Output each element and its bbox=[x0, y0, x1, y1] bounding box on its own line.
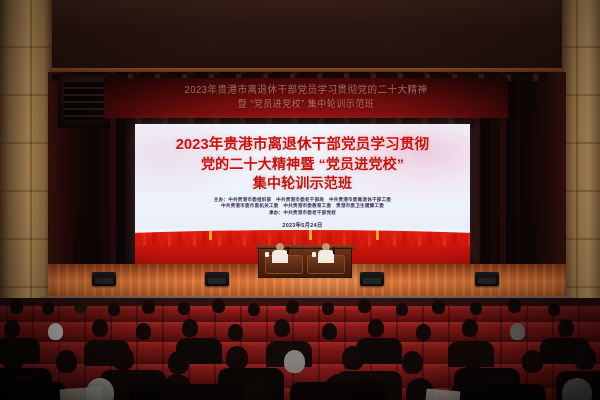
audience-head bbox=[92, 319, 108, 337]
audience-head bbox=[226, 346, 248, 370]
audience-head-gray-hair bbox=[284, 350, 305, 373]
audience-head bbox=[368, 319, 384, 337]
organizer-label-1: 主办： bbox=[214, 197, 228, 202]
audience-head bbox=[168, 351, 189, 374]
seated-person-left bbox=[272, 243, 288, 263]
audience-head bbox=[142, 300, 155, 314]
audience-head bbox=[342, 346, 364, 370]
audience-head bbox=[522, 350, 543, 373]
audience-head bbox=[4, 320, 20, 338]
backdrop-banner-line2: 暨 “党员进党校” 集中轮训示范班 bbox=[104, 97, 508, 111]
organizer-text-2: 中共贵港市委市直机关工委 中共贵港市委教育工委 贵港市委卫生健康工委 bbox=[221, 203, 384, 208]
audience-shoulders-front bbox=[0, 382, 66, 400]
audience-head bbox=[402, 351, 423, 374]
stage-monitor-3 bbox=[360, 272, 384, 286]
seated-person-right-body bbox=[318, 250, 334, 263]
organizer-label-3: 承办： bbox=[269, 210, 283, 215]
audience-head bbox=[248, 303, 260, 316]
hanging-stage-equipment bbox=[58, 74, 110, 128]
slide-organizers: 主办：中共贵港市委组织部 中共贵港市委老干部局 中共贵港市委离退休干部工委 中共… bbox=[135, 197, 470, 216]
audience-head bbox=[432, 300, 445, 314]
audience-head bbox=[178, 302, 190, 315]
stage-monitor-1 bbox=[92, 272, 116, 286]
audience-head bbox=[286, 300, 299, 314]
audience-head bbox=[244, 378, 272, 400]
audience-head bbox=[74, 299, 87, 313]
microphone-right bbox=[333, 247, 335, 254]
audience-head-white-hair bbox=[48, 323, 63, 340]
audience-head bbox=[322, 323, 337, 340]
audience-head bbox=[182, 319, 198, 337]
audience-head bbox=[108, 303, 120, 316]
audience-head-gray-hair bbox=[510, 323, 525, 340]
audience-shoulders-front bbox=[290, 382, 386, 400]
audience-head bbox=[136, 323, 151, 340]
projection-screen: 2023年贵港市离退休干部党员学习贯彻 党的二十大精神暨 “党员进党校” 集中轮… bbox=[135, 124, 470, 264]
audience-head bbox=[416, 324, 431, 341]
audience-head bbox=[212, 299, 225, 313]
skyline-accent-3 bbox=[376, 230, 379, 240]
audience-shoulders-front bbox=[450, 384, 546, 400]
slide-title-line3: 集中轮训示范班 bbox=[139, 174, 466, 193]
water-cup-left bbox=[265, 252, 269, 257]
stage-monitor-4 bbox=[475, 272, 499, 286]
stage-backdrop-banner: 2023年贵港市离退休干部党员学习贯彻党的二十大精神 暨 “党员进党校” 集中轮… bbox=[104, 78, 508, 118]
organizer-row-3: 承办：中共贵港市委老干部党校 bbox=[135, 210, 470, 216]
audience-head bbox=[462, 346, 484, 370]
organizer-text-3: 中共贵港市委老干部党校 bbox=[283, 210, 336, 215]
audience-head bbox=[2, 346, 24, 370]
microphone-left bbox=[287, 247, 289, 254]
audience-shoulders-front bbox=[130, 384, 226, 400]
auditorium-scene: 2023年贵港市离退休干部党员学习贯彻党的二十大精神 暨 “党员进党校” 集中轮… bbox=[0, 0, 600, 400]
audience-head bbox=[462, 319, 478, 337]
slide-skyline-silhouette bbox=[135, 228, 470, 246]
audience-head bbox=[228, 324, 243, 341]
audience-head bbox=[548, 303, 560, 316]
slide-title: 2023年贵港市离退休干部党员学习贯彻 党的二十大精神暨 “党员进党校” 集中轮… bbox=[139, 136, 466, 193]
organizer-text-1: 中共贵港市委组织部 中共贵港市委老干部局 中共贵港市委离退休干部工委 bbox=[228, 197, 391, 202]
audience-head-gray-hair bbox=[562, 378, 592, 400]
audience-head bbox=[358, 299, 371, 313]
slide-date: 2023年5月24日 bbox=[135, 221, 470, 229]
ceiling-soffit bbox=[30, 0, 588, 72]
audience-head bbox=[56, 350, 77, 373]
slide-title-line1: 2023年贵港市离退休干部党员学习贯彻 bbox=[139, 136, 466, 155]
audience-head bbox=[470, 302, 482, 315]
seated-person-right bbox=[318, 243, 334, 263]
audience-head bbox=[558, 319, 574, 337]
audience-head bbox=[508, 299, 521, 313]
backdrop-banner-line1: 2023年贵港市离退休干部党员学习贯彻党的二十大精神 bbox=[104, 83, 508, 97]
audience-head bbox=[112, 346, 134, 370]
slide-title-line2: 党的二十大精神暨 “党员进党校” bbox=[139, 155, 466, 174]
handout-paper-right bbox=[426, 389, 461, 400]
audience-head bbox=[322, 302, 334, 315]
skyline-accent-1 bbox=[209, 230, 212, 240]
seated-person-left-body bbox=[272, 250, 288, 263]
stage-monitor-2 bbox=[205, 272, 229, 286]
water-cup-right bbox=[312, 252, 316, 257]
handout-paper-left bbox=[60, 387, 103, 400]
audience-head bbox=[42, 302, 54, 315]
audience-head bbox=[274, 319, 290, 337]
audience-head bbox=[574, 346, 596, 370]
audience-area bbox=[0, 298, 600, 400]
audience-head bbox=[10, 300, 23, 314]
audience-head bbox=[396, 303, 408, 316]
